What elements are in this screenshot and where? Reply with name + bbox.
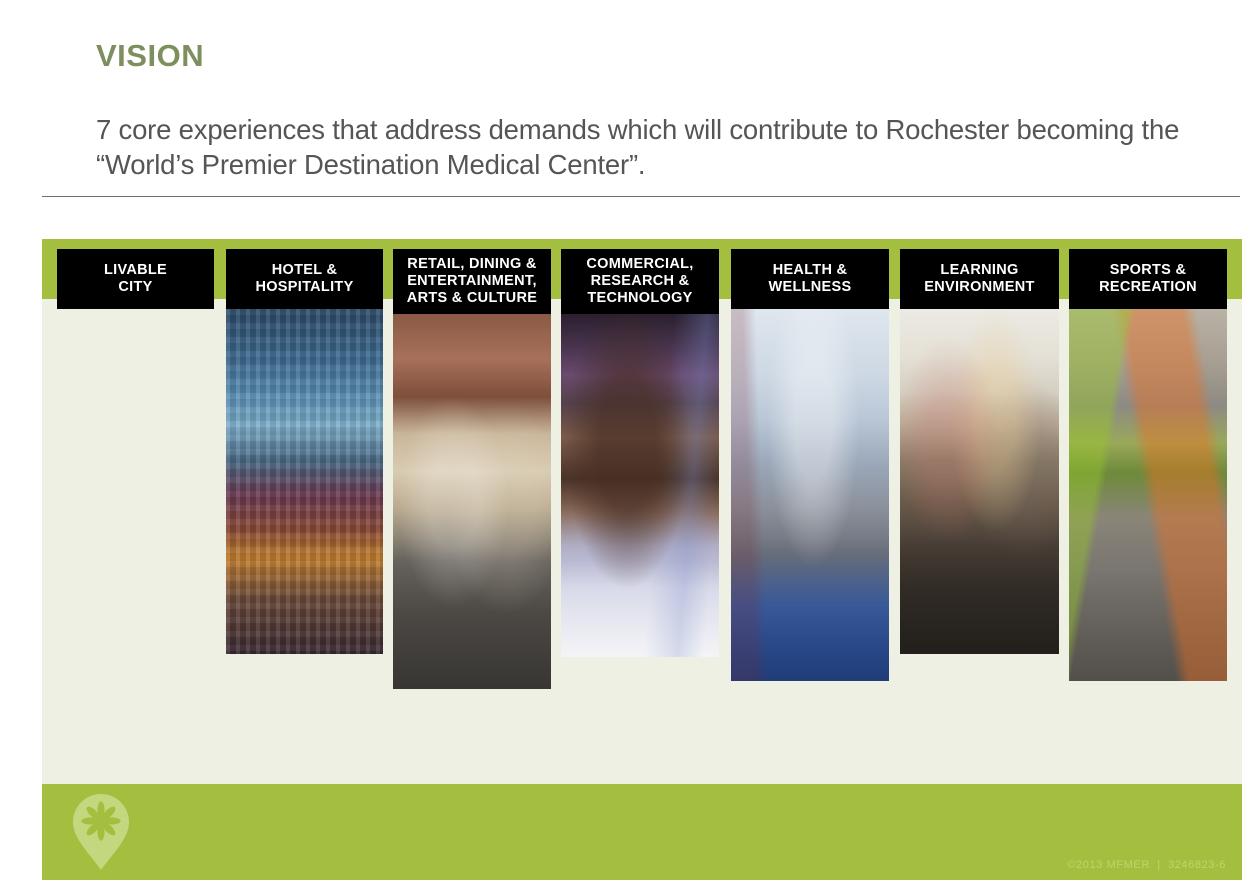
- city-plaza-crowd-photo: [57, 309, 214, 681]
- column-label: HEALTH & WELLNESS: [769, 262, 852, 296]
- column-header-retail-dining-entertainment-arts-culture: RETAIL, DINING & ENTERTAINMENT, ARTS & C…: [393, 249, 551, 314]
- experience-column-sports-recreation[interactable]: SPORTS & RECREATION: [1069, 249, 1227, 681]
- experience-columns-panel: LIVABLE CITYHOTEL & HOSPITALITYRETAIL, D…: [42, 239, 1242, 784]
- students-laptop-group-photo: [900, 309, 1059, 654]
- cafe-couple-table-photo: [393, 314, 551, 689]
- footer-band: ©2013 MFMER | 3246823-6: [42, 784, 1242, 880]
- column-label: SPORTS & RECREATION: [1099, 262, 1197, 296]
- two-runners-jogging-photo: [1069, 309, 1227, 681]
- column-header-sports-recreation: SPORTS & RECREATION: [1069, 249, 1227, 309]
- column-label: COMMERCIAL, RESEARCH & TECHNOLOGY: [586, 256, 693, 307]
- experience-column-hotel-hospitality[interactable]: HOTEL & HOSPITALITY: [226, 249, 383, 654]
- hotel-exterior-evening-photo: [226, 309, 383, 654]
- column-header-learning-environment: LEARNING ENVIRONMENT: [900, 249, 1059, 309]
- column-label: LIVABLE CITY: [104, 262, 167, 296]
- copyright-credit: ©2013 MFMER | 3246823-6: [1067, 859, 1226, 871]
- column-header-livable-city: LIVABLE CITY: [57, 249, 214, 309]
- column-label: HOTEL & HOSPITALITY: [255, 262, 353, 296]
- experience-column-learning-environment[interactable]: LEARNING ENVIRONMENT: [900, 249, 1059, 654]
- outdoor-yoga-class-photo: [731, 309, 889, 681]
- column-header-hotel-hospitality: HOTEL & HOSPITALITY: [226, 249, 383, 309]
- lab-researcher-pipette-photo: [561, 314, 719, 657]
- experience-column-livable-city[interactable]: LIVABLE CITY: [57, 249, 214, 681]
- slide-subtitle: 7 core experiences that address demands …: [96, 112, 1226, 182]
- header-divider: [42, 196, 1240, 197]
- column-label: LEARNING ENVIRONMENT: [924, 262, 1034, 296]
- experience-column-health-wellness[interactable]: HEALTH & WELLNESS: [731, 249, 889, 681]
- mayo-clinic-pin-flower-logo: [70, 792, 132, 872]
- column-label: RETAIL, DINING & ENTERTAINMENT, ARTS & C…: [407, 256, 537, 307]
- experience-column-retail-dining-entertainment-arts-culture[interactable]: RETAIL, DINING & ENTERTAINMENT, ARTS & C…: [393, 249, 551, 689]
- column-header-health-wellness: HEALTH & WELLNESS: [731, 249, 889, 309]
- experience-column-commercial-research-technology[interactable]: COMMERCIAL, RESEARCH & TECHNOLOGY: [561, 249, 719, 657]
- column-header-commercial-research-technology: COMMERCIAL, RESEARCH & TECHNOLOGY: [561, 249, 719, 314]
- page-title: VISION: [96, 38, 204, 74]
